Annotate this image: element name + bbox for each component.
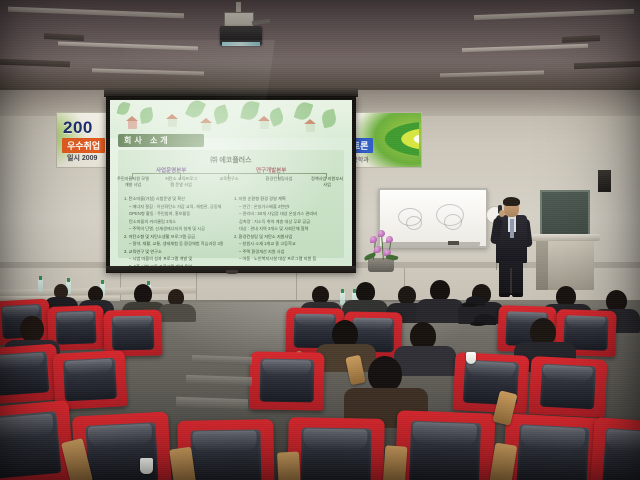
- seat-highlight: [520, 426, 586, 451]
- presenter-hand: [499, 210, 505, 217]
- slide-bullet: 감축량 : 저소득 취약 계층 대상 무료 공급: [234, 219, 338, 226]
- seat-highlight: [353, 318, 391, 331]
- leaf-icon: [117, 101, 131, 116]
- banner-tag: 우수취업: [62, 138, 105, 153]
- slide-bullet: 2. 환경컨설팅 및 저탄소 지원사업: [234, 234, 338, 241]
- person-head: [134, 284, 152, 304]
- slide-bullet: – 창원시 소재 1개교 중 고등학교: [234, 241, 338, 248]
- baseball-cap: [466, 296, 485, 306]
- person-head: [430, 280, 450, 301]
- seat-armrest: [383, 445, 408, 480]
- slide-company-line: ㈜ 에코플러스: [110, 155, 352, 165]
- seat-highlight: [88, 424, 152, 448]
- whiteboard-sketch: [444, 214, 462, 230]
- presenter-shoe: [512, 293, 523, 297]
- org-box: 주민자율지원 모델개발 사업: [116, 176, 150, 187]
- slide-bullet: 탄소마을의 커리큘럼 3개소: [124, 219, 228, 226]
- podium-top: [530, 234, 601, 241]
- presenter-hair: [503, 197, 520, 206]
- org-box: 저탄소 교육프로그램 운영 사업: [164, 176, 198, 187]
- person-shoulders: [158, 304, 196, 322]
- orchid-flower: [386, 236, 393, 243]
- banner-year: 200: [63, 118, 93, 138]
- seat-highlight: [262, 360, 311, 376]
- leaf-icon: [320, 109, 338, 129]
- auditorium-seat: [529, 356, 608, 418]
- seat-highlight: [566, 316, 606, 329]
- seat-highlight: [193, 431, 257, 453]
- auditorium-seat: [104, 309, 163, 356]
- presenter-shoe: [499, 293, 510, 297]
- presenter-leg-gap: [510, 268, 512, 293]
- slide-bullet: – 연간 : 온실가스배출 2천만t: [234, 204, 338, 211]
- slide-bullet: – 관리비 : 50개 사업장 대상 온실가스 관리비: [234, 211, 338, 218]
- podium-shadow: [536, 238, 548, 290]
- slide-header-graphic: [110, 100, 352, 138]
- slide-bullet: – 주택의 단열, 신재생에너지의 설계 및 시공: [124, 226, 228, 233]
- org-connector: [132, 173, 326, 174]
- whiteboard-sketch: [406, 216, 422, 230]
- auditorium-seat: [0, 400, 75, 480]
- projector-lens: [222, 42, 260, 46]
- auditorium-seat: [0, 344, 60, 405]
- paper-cup: [466, 352, 476, 364]
- seat-highlight: [412, 422, 477, 446]
- seat-highlight: [113, 316, 151, 329]
- orchid-flower: [370, 236, 377, 243]
- slide-bullet: 대상 : 관내 지역 3개소 및 사회단체 협력: [234, 226, 338, 233]
- person-head: [368, 356, 402, 392]
- slide-bullet: 1. 자원 순환형 환경 경영 계획: [234, 196, 338, 203]
- auditorium-seat: [395, 410, 496, 480]
- lecture-hall-photo: 200 우수취업 일시 2009 수회 강전학토론 대학교 환경공학과: [0, 0, 640, 480]
- auditorium-seat: [589, 417, 640, 480]
- slide-bullet: – 시범 마을의 성과 프로그램 개발 및: [124, 256, 228, 263]
- slide-bullet: – 에너지 절감 · 이산화탄소 저감 교육, 체험관, 공동체: [124, 204, 228, 211]
- slide-bullet: OPEN형 활동 : 주민참여, 홍보활동: [124, 211, 228, 218]
- banner-chevron-icon: [373, 117, 419, 161]
- slide-bullet: – 아동 · 노인복지시설 대상 프로그램 지원 등: [234, 256, 338, 263]
- leaf-icon: [267, 107, 285, 127]
- baseball-cap: [474, 314, 496, 325]
- seat-highlight: [295, 314, 333, 327]
- leaf-icon: [139, 107, 154, 124]
- seat-highlight: [542, 365, 593, 383]
- slide-bullet: – 절약, 재활, 교통, 생태체험 등 환경체험 학습과정 3종: [124, 241, 228, 248]
- slide-bullet: 1. 탄소마을(가칭) 시범운영 및 확산: [124, 196, 228, 203]
- house-icon: [306, 123, 315, 132]
- slide-left-column: 1. 탄소마을(가칭) 시범운영 및 확산 – 에너지 절감 · 이산화탄소 저…: [124, 196, 228, 268]
- person-shoulders: [416, 299, 464, 323]
- seat-armrest: [277, 451, 301, 480]
- person-head: [20, 316, 44, 342]
- auditorium-seat: [249, 351, 324, 410]
- paper-cup: [140, 458, 153, 474]
- house-icon: [168, 118, 177, 127]
- leaf-icon: [212, 104, 231, 124]
- person-head: [356, 282, 375, 302]
- whiteboard-marker-tray: [382, 242, 480, 246]
- auditorium-seat: [502, 413, 604, 480]
- person-shoulders: [394, 346, 456, 376]
- auditorium-seat: [453, 352, 530, 414]
- slide-bullet: 3. 교육연구 및 연구소: [124, 249, 228, 256]
- seat-highlight: [304, 429, 368, 451]
- slide-bullet: 2. 저탄소형 및 저탄소생활 프로그램 공급: [124, 234, 228, 241]
- slide-title: 회사 소개: [124, 135, 171, 146]
- auditorium-seat: [287, 417, 384, 480]
- whiteboard: [378, 188, 488, 248]
- org-box: 환경컨설팅사업: [262, 176, 296, 182]
- wall-speaker: [598, 170, 611, 192]
- slide-bullet: – 주택 환경개선 지원 사업: [234, 249, 338, 256]
- whiteboard-eraser: [448, 241, 459, 245]
- org-box: 교육연구소: [212, 176, 246, 182]
- orchid-flower: [378, 230, 385, 237]
- banner-subtitle: 일시 2009: [67, 153, 97, 163]
- house-icon: [128, 120, 137, 129]
- projection-screen: 회사 소개 ㈜ 에코플러스 사업운영본부 연구개발본부 주민자율지원 모델개발 …: [110, 100, 352, 268]
- house-icon: [260, 120, 269, 129]
- plant-pot: [368, 258, 394, 272]
- water-bottle: [38, 279, 43, 292]
- screen-pull-knob: [226, 270, 238, 274]
- presenter-tie: [510, 219, 514, 238]
- org-box: 정책사업 지원부서 사업: [310, 176, 344, 187]
- seat-highlight: [56, 312, 93, 325]
- slide-right-column: 1. 자원 순환형 환경 경영 계획 – 연간 : 온실가스배출 2천만t – …: [234, 196, 338, 264]
- leaf-icon: [240, 100, 260, 121]
- house-icon: [202, 122, 211, 131]
